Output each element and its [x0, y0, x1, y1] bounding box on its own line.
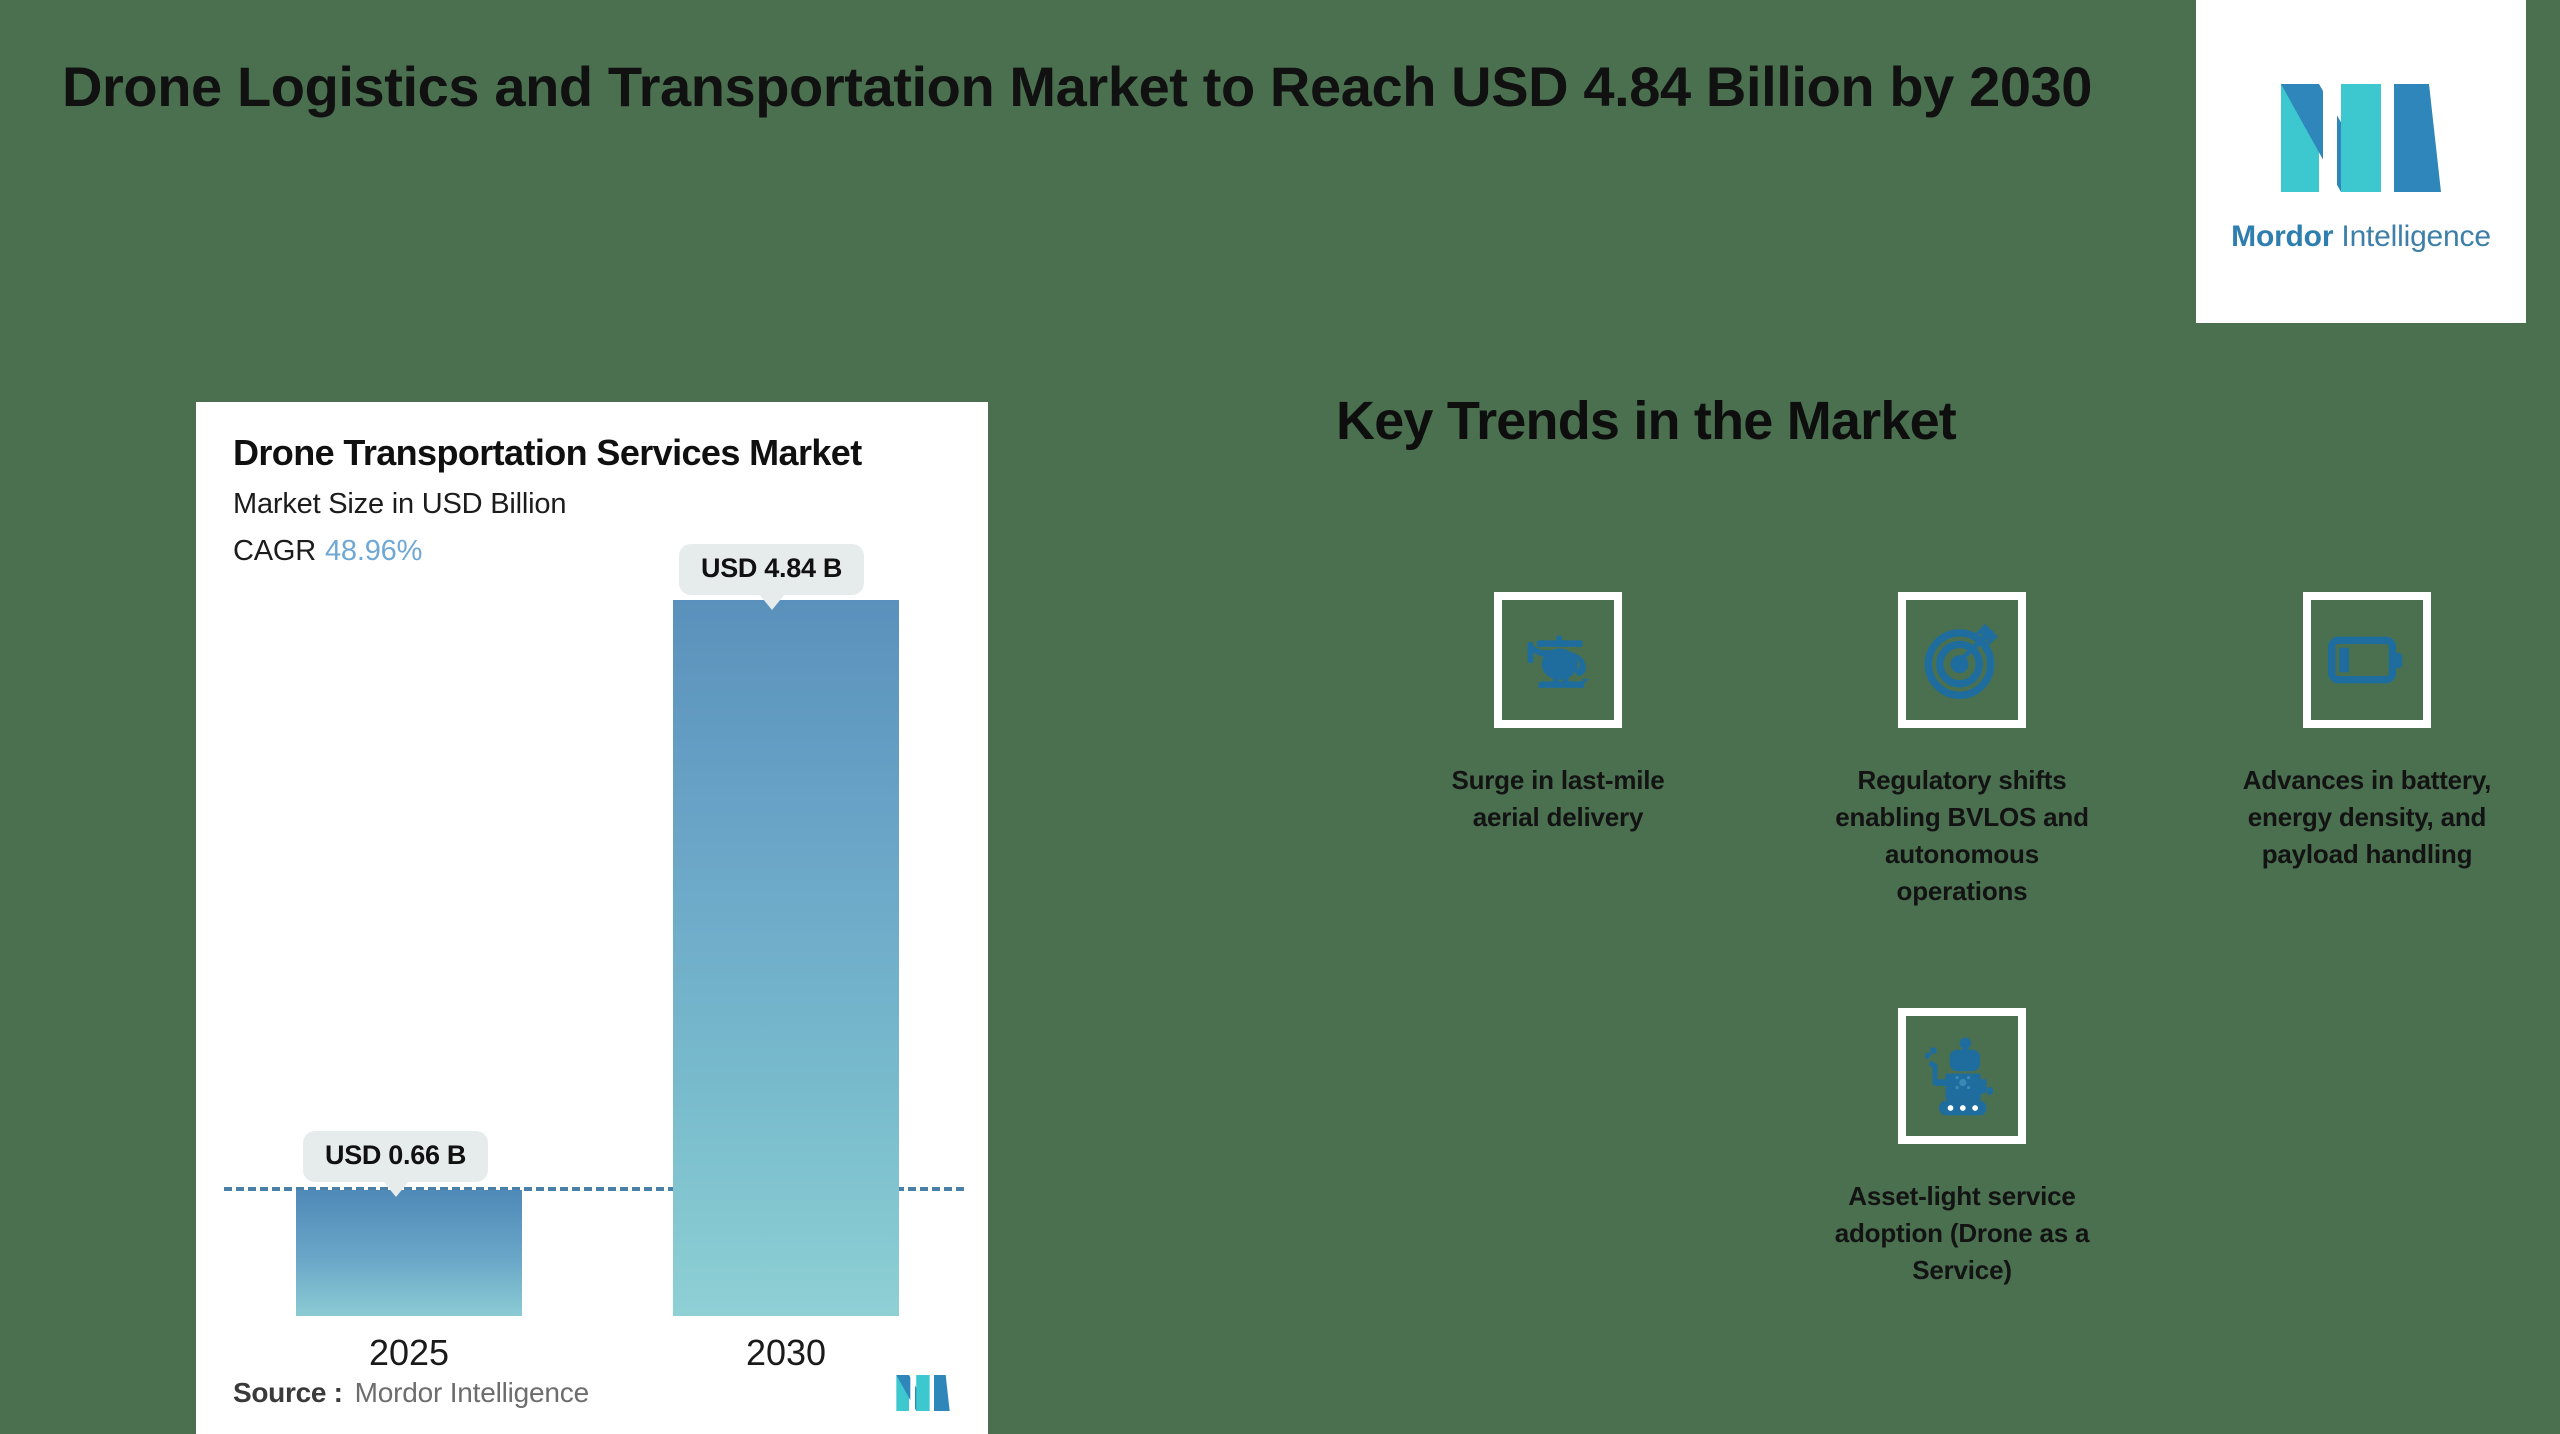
- trend-item-regulatory: Regulatory shifts enabling BVLOS and aut…: [1797, 592, 2127, 910]
- brand-logo-card: Mordor Intelligence: [2196, 0, 2526, 323]
- trend-icon-frame: [1494, 592, 1622, 728]
- trend-icon-frame: [1898, 1008, 2026, 1144]
- x-axis-label-2030: 2030: [673, 1332, 899, 1374]
- mordor-monogram-icon: [895, 1370, 951, 1416]
- value-tooltip-2030: USD 4.84 B: [679, 544, 864, 595]
- bar-2025: [296, 1190, 522, 1316]
- cagr-label: CAGR: [233, 535, 316, 567]
- chart-panel: Drone Transportation Services Market Mar…: [196, 402, 988, 1434]
- brand-name-light: Intelligence: [2333, 220, 2491, 253]
- chart-title: Drone Transportation Services Market: [233, 432, 862, 474]
- battery-icon: [2326, 619, 2408, 701]
- robot-icon: [1921, 1035, 2003, 1117]
- trend-label: Advances in battery, energy density, and…: [2243, 762, 2491, 873]
- trend-icon-frame: [1898, 592, 2026, 728]
- value-tooltip-2025: USD 0.66 B: [303, 1131, 488, 1182]
- target-dart-icon: [1921, 619, 2003, 701]
- bar-2030: [673, 600, 899, 1316]
- trend-label: Surge in last-mile aerial delivery: [1451, 762, 1664, 836]
- trend-item-battery: Advances in battery, energy density, and…: [2202, 592, 2532, 873]
- page-headline: Drone Logistics and Transportation Marke…: [62, 52, 2112, 123]
- trend-icon-frame: [2303, 592, 2431, 728]
- x-axis-label-2025: 2025: [296, 1332, 522, 1374]
- source-label: Source :: [233, 1377, 343, 1409]
- source-value: Mordor Intelligence: [355, 1377, 589, 1409]
- brand-name: Mordor Intelligence: [2231, 220, 2491, 254]
- trend-item-asset-light: Asset-light service adoption (Drone as a…: [1797, 1008, 2127, 1289]
- trend-label: Regulatory shifts enabling BVLOS and aut…: [1835, 762, 2089, 910]
- brand-name-bold: Mordor: [2231, 220, 2333, 253]
- chart-cagr: CAGR48.96%: [233, 535, 422, 568]
- chart-subtitle: Market Size in USD Billion: [233, 488, 566, 521]
- cagr-value: 48.96%: [325, 535, 422, 567]
- key-trends-title: Key Trends in the Market: [1336, 390, 1956, 452]
- trend-item-last-mile: Surge in last-mile aerial delivery: [1393, 592, 1723, 836]
- helicopter-icon: [1517, 619, 1599, 701]
- mordor-intelligence-logo-icon: [2277, 70, 2445, 206]
- trend-label: Asset-light service adoption (Drone as a…: [1835, 1178, 2090, 1289]
- chart-source-row: Source : Mordor Intelligence: [233, 1370, 951, 1416]
